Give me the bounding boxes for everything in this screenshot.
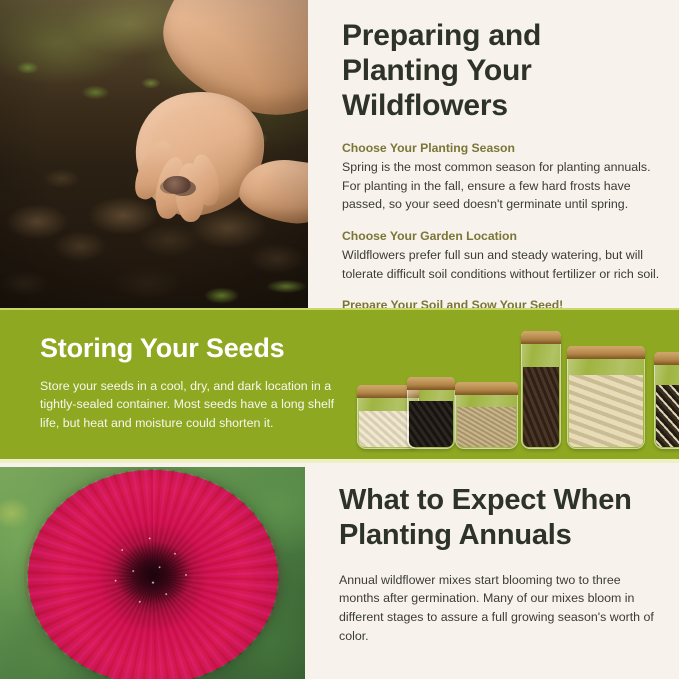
expect-heading: What to Expect When Planting Annuals <box>339 483 661 553</box>
cork-stopper-icon <box>567 346 645 359</box>
expect-text-column: What to Expect When Planting Annuals Ann… <box>305 467 679 679</box>
cork-stopper-icon <box>521 331 561 344</box>
subheading-planting-season: Choose Your Planting Season <box>342 140 663 156</box>
magenta-cornflower-bloom-photo <box>0 467 305 679</box>
storing-heading: Storing Your Seeds <box>40 334 335 364</box>
jar-contents <box>523 367 559 447</box>
expect-body: Annual wildflower mixes start blooming t… <box>339 571 661 646</box>
storing-body: Store your seeds in a cool, dry, and dar… <box>40 377 335 433</box>
jar-contents <box>457 407 516 447</box>
infographic-page: Preparing and Planting Your Wildflowers … <box>0 0 679 679</box>
cork-stopper-icon <box>654 352 679 365</box>
jar-black-seeds <box>407 377 455 449</box>
cork-topped-glass-jars-of-assorted-seeds-photo <box>345 310 679 459</box>
section-preparing-and-planting: Preparing and Planting Your Wildflowers … <box>0 0 679 308</box>
hand-sowing-seeds-in-soil-photo <box>0 0 308 308</box>
tip-block-garden-location: Choose Your Garden Location Wildflowers … <box>342 228 663 283</box>
body-planting-season: Spring is the most common season for pla… <box>342 158 663 215</box>
body-garden-location: Wildflowers prefer full sun and steady w… <box>342 246 663 284</box>
photo-vignette <box>0 0 308 308</box>
jar-contents <box>569 375 643 447</box>
jar-brown-seeds <box>521 331 561 449</box>
storing-text-column: Storing Your Seeds Store your seeds in a… <box>0 310 345 433</box>
preparing-text-column: Preparing and Planting Your Wildflowers … <box>308 0 679 308</box>
cork-stopper-icon <box>455 382 518 395</box>
page-title: Preparing and Planting Your Wildflowers <box>342 18 663 123</box>
cork-stopper-icon <box>407 377 455 390</box>
jar-cream-flakes <box>567 346 645 449</box>
jar-contents <box>409 401 453 447</box>
section-what-to-expect: What to Expect When Planting Annuals Ann… <box>0 467 679 679</box>
flower-stamens <box>98 525 208 621</box>
tip-block-planting-season: Choose Your Planting Season Spring is th… <box>342 140 663 214</box>
jar-speckled-seeds <box>654 352 679 449</box>
jar-contents <box>656 385 679 447</box>
section-storing-your-seeds: Storing Your Seeds Store your seeds in a… <box>0 308 679 463</box>
jar-tan-grains <box>455 382 518 449</box>
subheading-garden-location: Choose Your Garden Location <box>342 228 663 244</box>
